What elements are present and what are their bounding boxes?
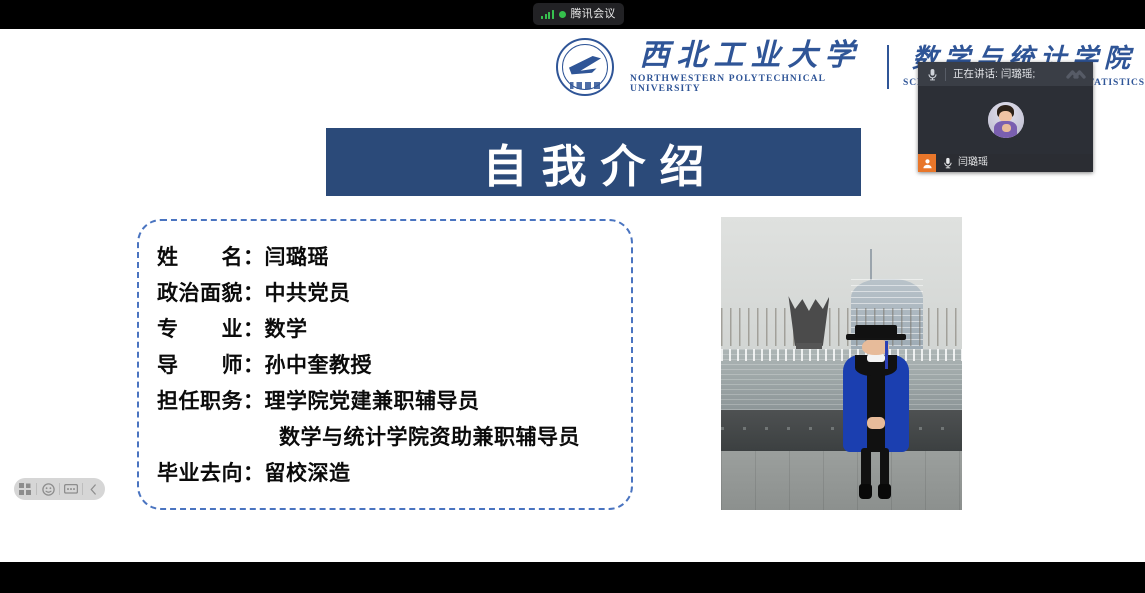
info-line-major: 专 业：数学 bbox=[157, 311, 631, 347]
subtitle-chat-icon[interactable] bbox=[60, 478, 82, 500]
floating-video-panel[interactable]: 正在讲话: 闫璐瑶; bbox=[918, 62, 1093, 172]
info-line-destination: 毕业去向：留校深造 bbox=[157, 455, 631, 491]
participant-name: 闫璐瑶 bbox=[958, 158, 988, 168]
info-line-advisor: 导 师：孙中奎教授 bbox=[157, 347, 631, 383]
bottom-letterbox bbox=[0, 562, 1145, 593]
photo-person-figure bbox=[839, 325, 914, 501]
screen: 腾讯会议 西北工业大学 NORTHWESTERN POLYTECHNICAL U… bbox=[0, 0, 1145, 593]
video-panel-body[interactable] bbox=[918, 86, 1093, 154]
video-panel-footer: 闫璐瑶 bbox=[918, 154, 1093, 172]
meeting-indicator-pill[interactable]: 腾讯会议 bbox=[533, 3, 624, 25]
university-name-block: 西北工业大学 NORTHWESTERN POLYTECHNICAL UNIVER… bbox=[630, 40, 871, 95]
system-top-bar: 腾讯会议 bbox=[0, 0, 1145, 29]
info-line-position-second: 数学与统计学院资助兼职辅导员 bbox=[157, 419, 631, 455]
info-line-political-status: 政治面貌：中共党员 bbox=[157, 275, 631, 311]
avatar bbox=[988, 102, 1024, 138]
grid-apps-icon[interactable] bbox=[14, 478, 36, 500]
header-divider bbox=[945, 68, 946, 81]
microphone-icon[interactable] bbox=[939, 154, 956, 172]
emoji-smiley-icon[interactable] bbox=[37, 478, 59, 500]
signal-bars-icon bbox=[541, 10, 554, 19]
info-line-name: 姓 名：闫璐瑶 bbox=[157, 239, 631, 275]
chevron-left-icon[interactable] bbox=[83, 478, 105, 500]
info-card: 姓 名：闫璐瑶 政治面貌：中共党员 专 业：数学 导 师：孙中奎教授 担任职务：… bbox=[137, 219, 633, 510]
recording-status-dot-icon bbox=[559, 11, 566, 18]
graduation-photo bbox=[721, 217, 962, 510]
university-name-en: NORTHWESTERN POLYTECHNICAL UNIVERSITY bbox=[630, 74, 871, 94]
header-divider bbox=[887, 45, 889, 89]
slide-title: 自我介绍 bbox=[468, 130, 718, 195]
video-panel-header[interactable]: 正在讲话: 闫璐瑶; bbox=[918, 62, 1093, 86]
university-name-cn: 西北工业大学 bbox=[640, 40, 862, 72]
meeting-app-name: 腾讯会议 bbox=[571, 9, 616, 20]
info-line-position: 担任职务：理学院党建兼职辅导员 bbox=[157, 383, 631, 419]
person-icon bbox=[918, 154, 936, 172]
slide-title-banner: 自我介绍 bbox=[326, 128, 861, 196]
slideshow-controls-toolbar[interactable] bbox=[14, 478, 105, 500]
double-chevron-right-icon[interactable] bbox=[1065, 65, 1087, 83]
nwpu-seal-icon bbox=[556, 38, 614, 96]
microphone-icon bbox=[924, 66, 940, 82]
speaking-status-label: 正在讲话: 闫璐瑶; bbox=[953, 69, 1065, 80]
